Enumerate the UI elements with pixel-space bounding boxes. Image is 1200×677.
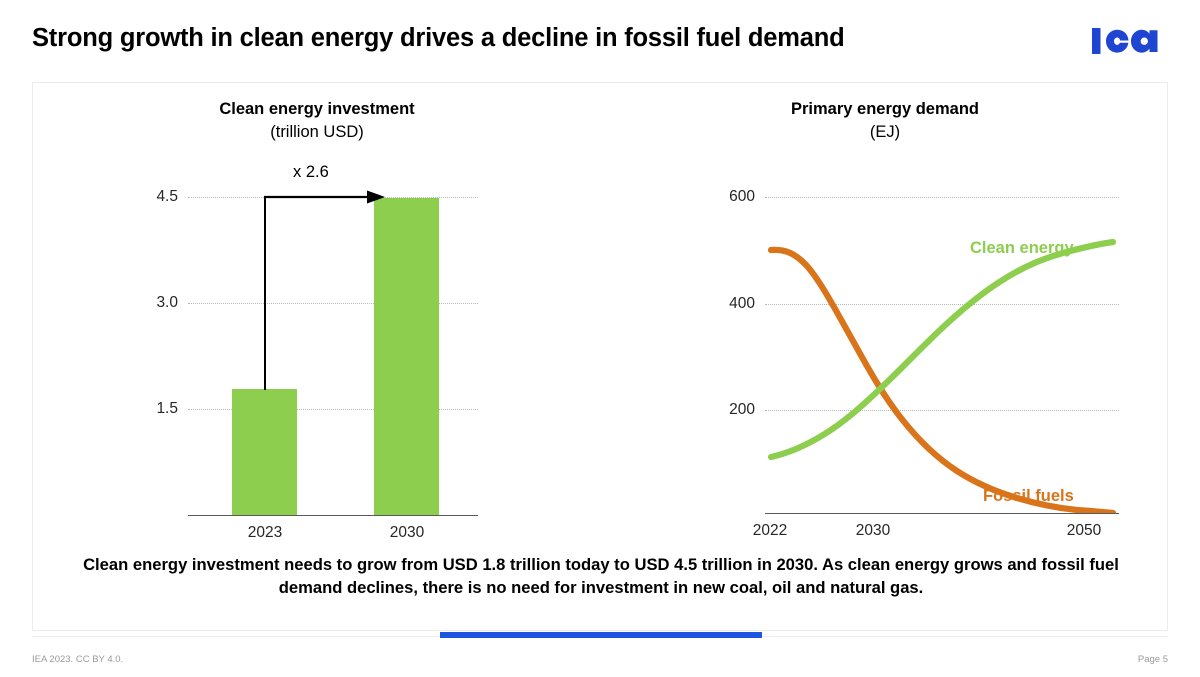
series-label-clean-energy: Clean energy	[970, 239, 1074, 258]
chart-title-left: Clean energy investment	[33, 100, 601, 119]
annotation-multiplier-label: x 2.6	[293, 163, 329, 182]
page-title: Strong growth in clean energy drives a d…	[32, 24, 845, 53]
series-line-fossil-fuels	[771, 250, 1113, 513]
bar-2023[interactable]	[232, 389, 297, 515]
xtick-2050: 2050	[1045, 522, 1123, 540]
footer-progress-bar[interactable]	[440, 632, 762, 638]
slide-caption: Clean energy investment needs to grow fr…	[61, 553, 1141, 599]
x-axis-left	[188, 515, 478, 516]
chart-title-right: Primary energy demand	[601, 100, 1169, 119]
slide: Strong growth in clean energy drives a d…	[0, 0, 1200, 677]
footer-page-number: Page 5	[1138, 654, 1168, 665]
chart-clean-energy-investment: Clean energy investment (trillion USD) 4…	[33, 83, 601, 553]
ytick-left-3-0: 3.0	[128, 294, 178, 312]
ytick-left-4-5: 4.5	[128, 188, 178, 206]
series-line-clean-energy	[771, 242, 1113, 457]
xtick-2022: 2022	[731, 522, 809, 540]
ytick-right-600: 600	[701, 188, 755, 206]
ytick-left-1-5: 1.5	[128, 400, 178, 418]
iea-logo-icon	[1092, 24, 1168, 58]
xtick-2030: 2030	[361, 524, 453, 542]
x-axis-right	[765, 513, 1119, 514]
chart-subtitle-right: (EJ)	[601, 123, 1169, 142]
line-plot-svg	[765, 143, 1119, 513]
slide-header: Strong growth in clean energy drives a d…	[0, 0, 1200, 82]
chart-subtitle-left: (trillion USD)	[33, 123, 601, 142]
bar-2030[interactable]	[374, 198, 439, 515]
xtick-2030: 2030	[834, 522, 912, 540]
annotation-arrow-icon	[263, 189, 387, 205]
xtick-2023: 2023	[219, 524, 311, 542]
ytick-right-200: 200	[701, 401, 755, 419]
annotation-vertical-line	[264, 196, 266, 390]
footer-copyright: IEA 2023. CC BY 4.0.	[32, 654, 123, 665]
ytick-right-400: 400	[701, 295, 755, 313]
content-panel: Clean energy investment (trillion USD) 4…	[32, 82, 1168, 631]
chart-primary-energy-demand: Primary energy demand (EJ) 600 400 200 2…	[601, 83, 1169, 553]
series-label-fossil-fuels: Fossil fuels	[983, 487, 1074, 506]
